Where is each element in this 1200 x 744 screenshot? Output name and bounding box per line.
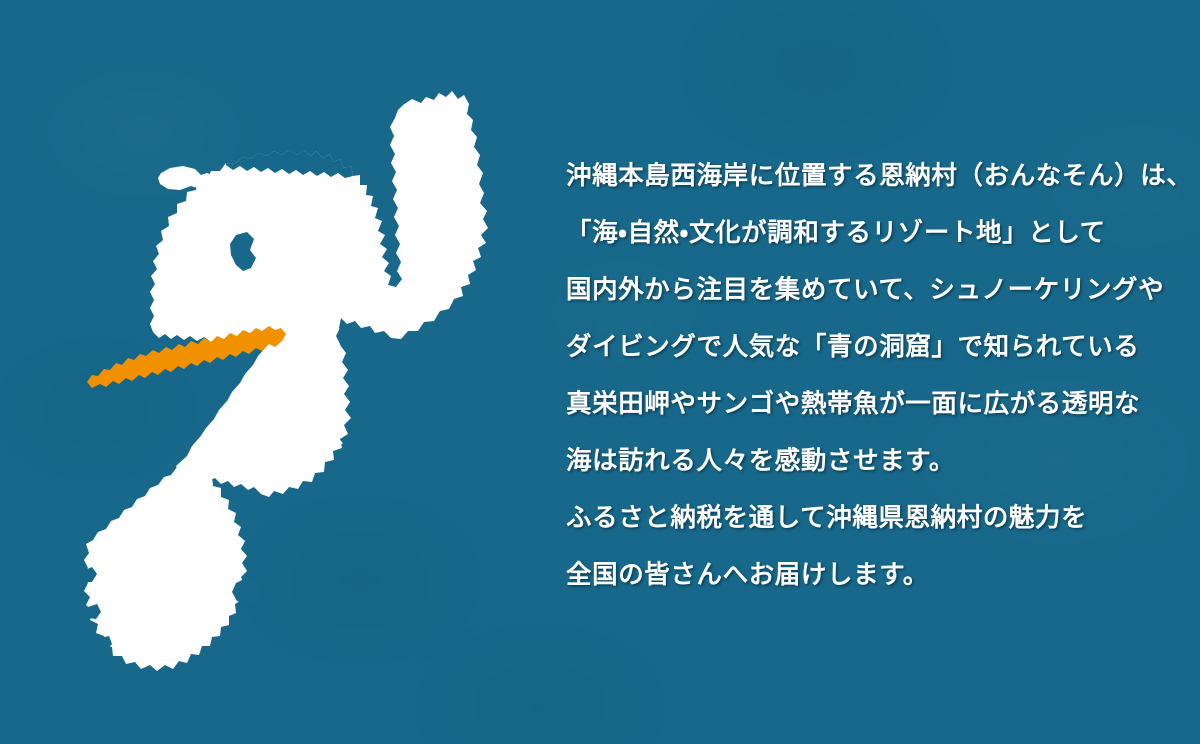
description-line: 国内外から注目を集めていて、シュノーケリングや [566, 262, 1166, 319]
description-line: 沖縄本島西海岸に位置する恩納村（おんなそん）は、 [566, 148, 1166, 205]
description-line: 「海・自然・文化が調和するリゾート地」として [566, 205, 1166, 262]
south-west-cove-c [97, 636, 112, 650]
okinawa-map-svg [40, 85, 560, 675]
page-root: 沖縄本島西海岸に位置する恩納村（おんなそん）は、 「海・自然・文化が調和するリゾ… [0, 0, 1200, 744]
description-line: ふるさと納税を通して沖縄県恩納村の魅力を [566, 490, 1166, 547]
description-line: 全国の皆さんへお届けします。 [566, 547, 1166, 604]
description-line: 真栄田岬やサンゴや熱帯魚が一面に広がる透明な [566, 376, 1166, 433]
description-line: 海は訪れる人々を感動させます。 [566, 433, 1166, 490]
okinawa-map [40, 85, 560, 675]
description-block: 沖縄本島西海岸に位置する恩納村（おんなそん）は、 「海・自然・文化が調和するリゾ… [566, 148, 1166, 604]
description-line: ダイビングで人気な「青の洞窟」で知られている [566, 319, 1166, 376]
